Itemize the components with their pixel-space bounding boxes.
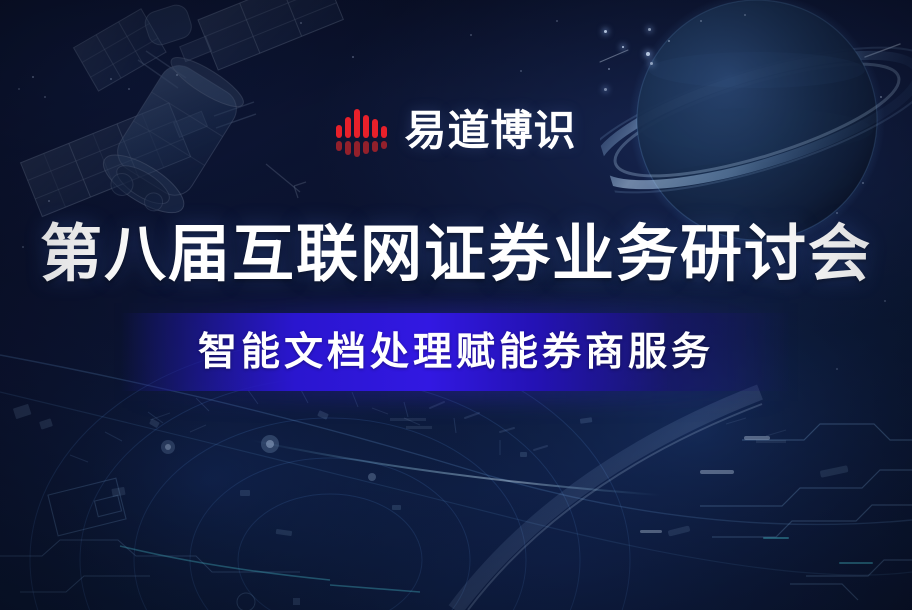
background-gradient <box>0 0 912 610</box>
poster-canvas: 易道博识 第八届互联网证券业务研讨会 智能文档处理赋能券商服务 <box>0 0 912 610</box>
page-title: 第八届互联网证券业务研讨会 <box>0 222 912 287</box>
brand-logo: 易道博识 <box>0 100 912 162</box>
subtitle-text: 智能文档处理赋能券商服务 <box>198 333 714 372</box>
waveform-bars-logo-icon <box>335 105 387 157</box>
brand-wordmark: 易道博识 <box>404 110 576 152</box>
subtitle-banner: 智能文档处理赋能券商服务 <box>120 313 792 391</box>
